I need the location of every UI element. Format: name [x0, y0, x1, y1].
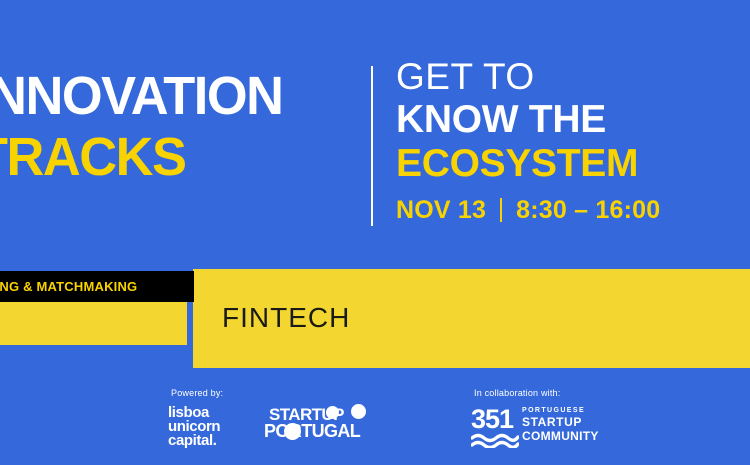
powered-by-label: Powered by: — [171, 388, 223, 398]
category-badge-label: NETWORKING & MATCHMAKING — [0, 279, 137, 294]
psc-wordmark: PORTUGUESE STARTUP COMMUNITY — [522, 407, 599, 442]
psc-line-portuguese: PORTUGUESE — [522, 407, 599, 414]
footer-section — [0, 368, 750, 465]
hero-section: INNOVATION TRACKS GET TO KNOW THE ECOSYS… — [0, 0, 750, 262]
event-title: INNOVATION TRACKS — [0, 66, 376, 188]
lisboa-unicorn-capital-logo: lisboa unicorn capital. — [168, 406, 220, 448]
event-datetime: NOV 13 8:30 – 16:00 — [396, 196, 736, 224]
datetime-separator-icon — [500, 198, 502, 222]
wave-icon — [471, 433, 519, 448]
headline-line-get-to: GET TO — [396, 56, 736, 98]
hero-vertical-divider — [371, 66, 373, 226]
psc-line-community: COMMUNITY — [522, 430, 599, 442]
track-name: FINTECH — [222, 302, 350, 334]
sp-circle-icon-3 — [284, 423, 301, 440]
event-poster: INNOVATION TRACKS GET TO KNOW THE ECOSYS… — [0, 0, 750, 465]
collaboration-label: In collaboration with: — [474, 388, 560, 398]
sp-line-portugal: PORTUGAL — [264, 421, 360, 442]
psc-line-startup: STARTUP — [522, 416, 599, 428]
event-title-line-innovation: INNOVATION — [0, 66, 364, 127]
sp-circle-icon-2 — [351, 404, 366, 419]
portuguese-startup-community-logo: 351 PORTUGUESE STARTUP COMMUNITY — [471, 406, 601, 448]
category-badge: NETWORKING & MATCHMAKING — [0, 271, 194, 302]
headline-line-know-the: KNOW THE — [396, 98, 736, 142]
event-title-line-tracks: TRACKS — [0, 127, 364, 188]
event-time: 8:30 – 16:00 — [516, 196, 660, 224]
hero-headline: GET TO KNOW THE ECOSYSTEM NOV 13 8:30 – … — [396, 56, 736, 224]
event-date: NOV 13 — [396, 196, 486, 224]
sp-circle-icon-1 — [326, 406, 339, 419]
psc-number-351: 351 — [471, 406, 513, 433]
headline-line-ecosystem: ECOSYSTEM — [396, 142, 736, 186]
startup-portugal-logo: STARTUP PORTUGAL — [264, 405, 372, 449]
luc-line-3: capital. — [168, 434, 220, 448]
